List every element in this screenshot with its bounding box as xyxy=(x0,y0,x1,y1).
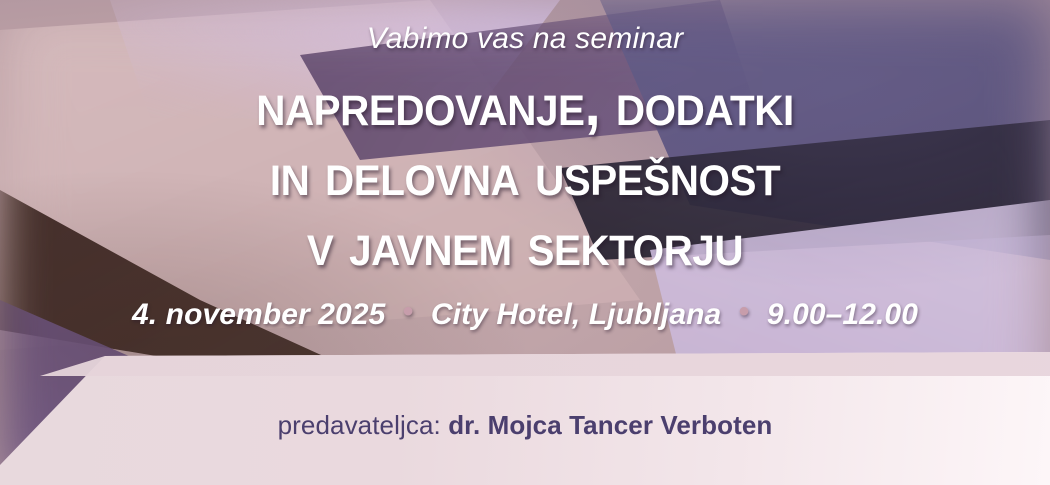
headline-line-3: v javnem sektorju xyxy=(32,210,1019,280)
kicker-text: Vabimo vas na seminar xyxy=(0,22,1050,56)
seminar-poster: Vabimo vas na seminar Napredovanje, doda… xyxy=(0,0,1050,485)
event-details: 4. november 2025 • City Hotel, Ljubljana… xyxy=(0,298,1050,332)
event-time: 9.00–12.00 xyxy=(767,298,918,331)
event-venue: City Hotel, Ljubljana xyxy=(431,298,721,331)
headline: Napredovanje, dodatki in delovna uspešno… xyxy=(0,70,1050,280)
speaker-name: dr. Mojca Tancer Verboten xyxy=(448,410,772,440)
speaker-role-label: predavateljca: xyxy=(278,410,449,440)
bullet-separator-icon: • xyxy=(394,295,423,328)
event-date: 4. november 2025 xyxy=(132,298,385,331)
headline-line-1: Napredovanje, dodatki xyxy=(32,70,1019,140)
speaker-line: predavateljca: dr. Mojca Tancer Verboten xyxy=(0,410,1050,441)
bullet-separator-icon: • xyxy=(730,295,759,328)
headline-line-2: in delovna uspešnost xyxy=(32,140,1019,210)
